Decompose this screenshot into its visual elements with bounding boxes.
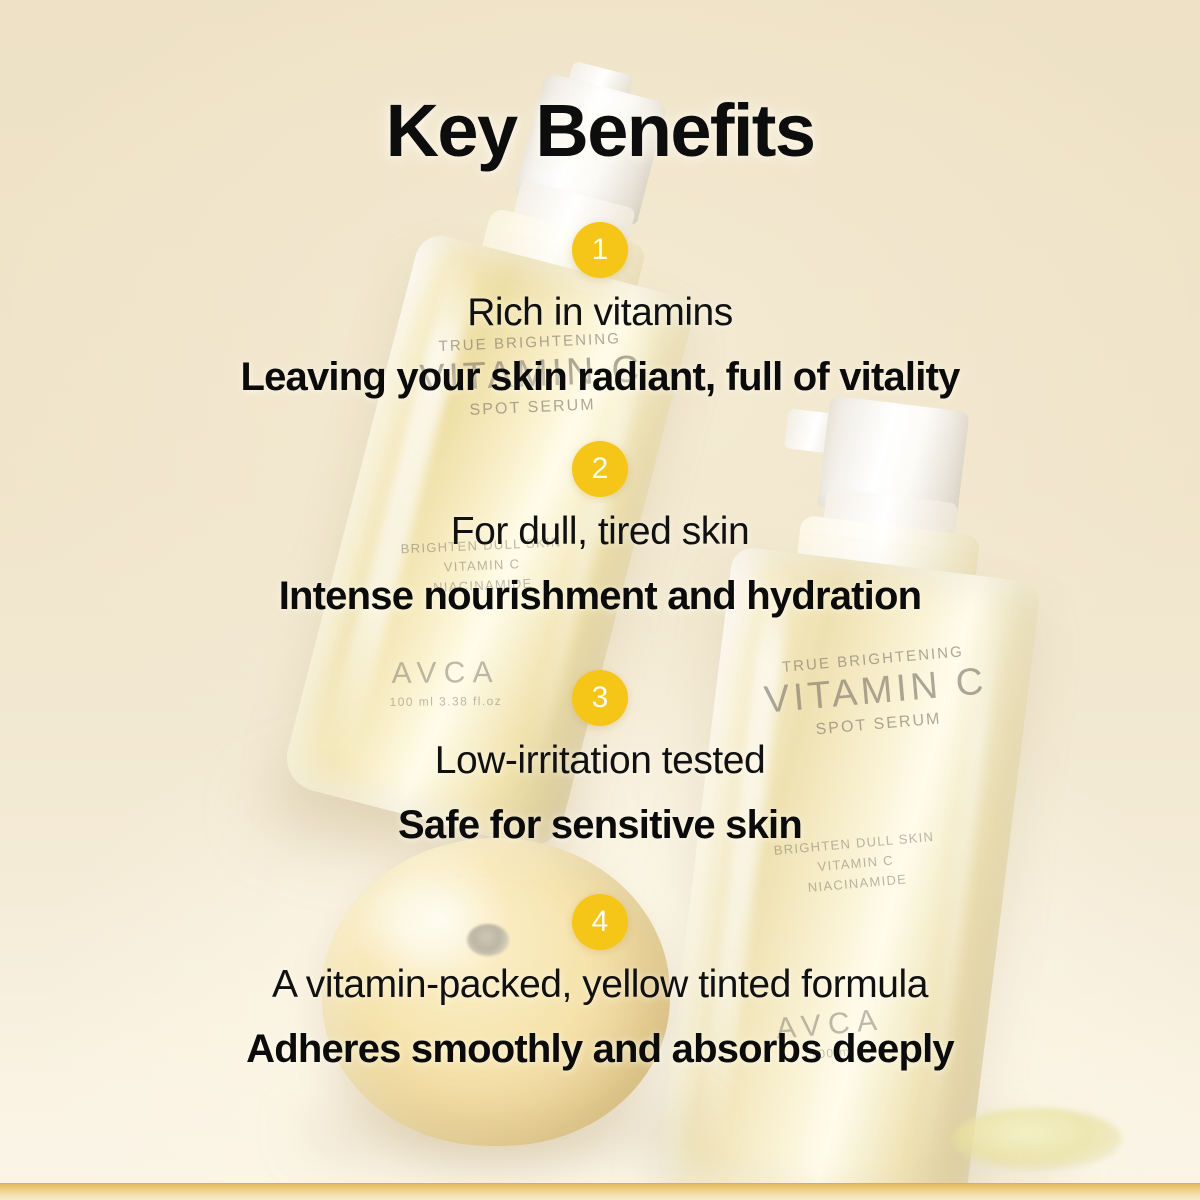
- benefit-item-1: 1 Rich in vitamins Leaving your skin rad…: [0, 222, 1200, 400]
- benefit-headline: Rich in vitamins: [0, 291, 1200, 335]
- benefit-headline: For dull, tired skin: [0, 510, 1200, 554]
- benefit-number-badge: 1: [572, 222, 628, 278]
- benefit-item-4: 4 A vitamin-packed, yellow tinted formul…: [0, 894, 1200, 1072]
- benefit-number-badge: 4: [572, 894, 628, 950]
- benefit-subheadline: Leaving your skin radiant, full of vital…: [0, 355, 1200, 400]
- benefit-number-badge: 2: [572, 441, 628, 497]
- benefit-headline: Low-irritation tested: [0, 739, 1200, 783]
- benefit-item-2: 2 For dull, tired skin Intense nourishme…: [0, 441, 1200, 619]
- benefit-subheadline: Intense nourishment and hydration: [0, 574, 1200, 619]
- benefit-headline: A vitamin-packed, yellow tinted formula: [0, 963, 1200, 1007]
- benefit-subheadline: Safe for sensitive skin: [0, 803, 1200, 848]
- benefit-item-3: 3 Low-irritation tested Safe for sensiti…: [0, 670, 1200, 848]
- benefit-subheadline: Adheres smoothly and absorbs deeply: [0, 1027, 1200, 1072]
- page-title: Key Benefits: [0, 88, 1200, 173]
- marketing-banner: TRUE BRIGHTENING VITAMIN C SPOT SERUM BR…: [0, 0, 1200, 1200]
- benefit-number-badge: 3: [572, 670, 628, 726]
